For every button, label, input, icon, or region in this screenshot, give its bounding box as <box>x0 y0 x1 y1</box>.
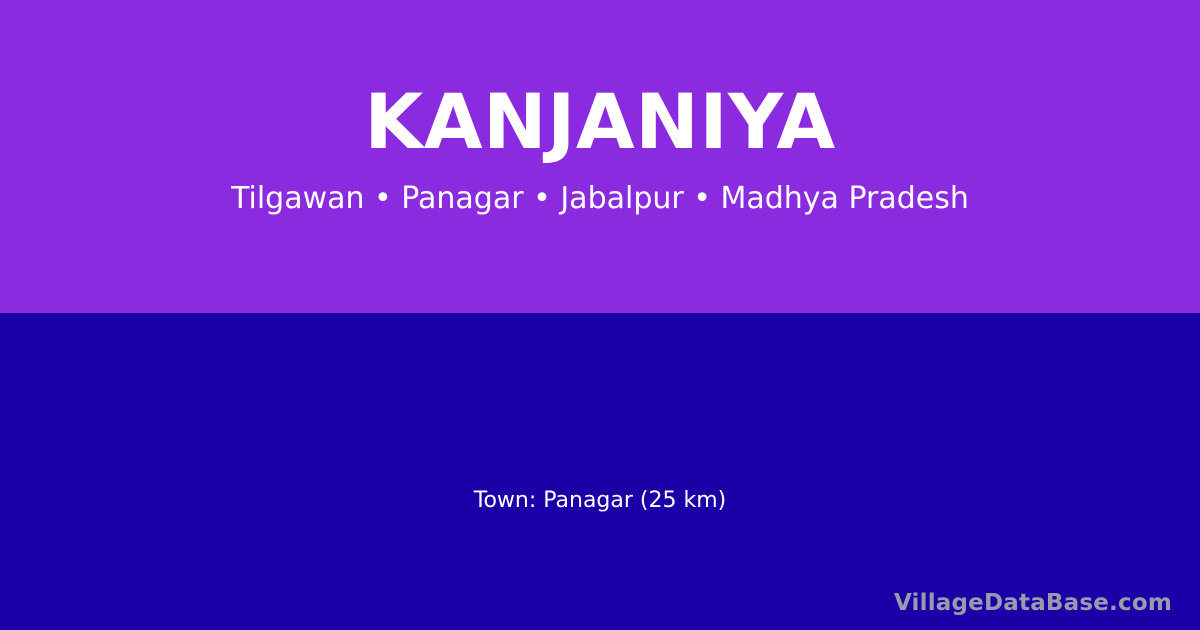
page-title: KANJANIYA <box>364 84 835 160</box>
hero-banner: KANJANIYA Tilgawan • Panagar • Jabalpur … <box>0 0 1200 313</box>
breadcrumb: Tilgawan • Panagar • Jabalpur • Madhya P… <box>231 182 969 217</box>
details-panel: Town: Panagar (25 km) VillageDataBase.co… <box>0 313 1200 630</box>
nearest-town-text: Town: Panagar (25 km) <box>0 488 1200 514</box>
site-watermark: VillageDataBase.com <box>894 590 1172 618</box>
village-info-card: KANJANIYA Tilgawan • Panagar • Jabalpur … <box>0 0 1200 630</box>
